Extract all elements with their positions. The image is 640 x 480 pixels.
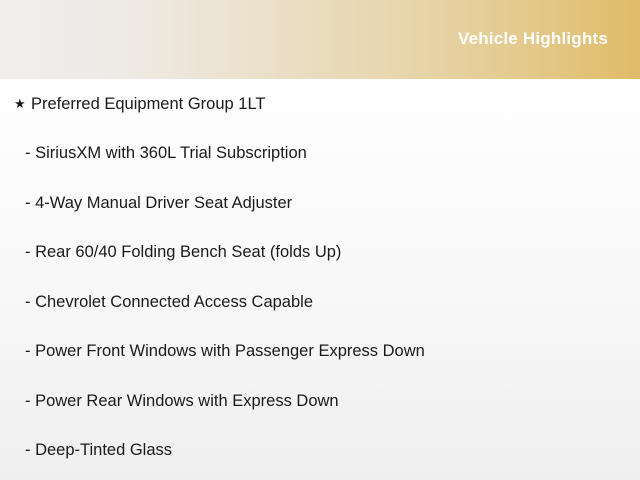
list-item-label: - Rear 60/40 Folding Bench Seat (folds U…	[25, 242, 341, 262]
list-item: - Power Front Windows with Passenger Exp…	[0, 327, 640, 377]
list-item: - SiriusXM with 360L Trial Subscription	[0, 129, 640, 179]
list-item: - Rear 60/40 Folding Bench Seat (folds U…	[0, 228, 640, 278]
star-bullet-icon: ★	[14, 97, 31, 110]
vehicle-highlights-page: Vehicle Highlights ★Preferred Equipment …	[0, 0, 640, 480]
page-title: Vehicle Highlights	[458, 29, 608, 49]
list-item-label: - 4-Way Manual Driver Seat Adjuster	[25, 193, 292, 213]
list-item-label: - Deep-Tinted Glass	[25, 440, 172, 460]
header-banner: Vehicle Highlights	[0, 0, 640, 79]
list-item: - 4-Way Manual Driver Seat Adjuster	[0, 178, 640, 228]
list-item: ★Preferred Equipment Group 1LT	[0, 79, 640, 129]
list-item-label: - Power Front Windows with Passenger Exp…	[25, 341, 425, 361]
list-item-label: - SiriusXM with 360L Trial Subscription	[25, 143, 307, 163]
list-item: - Power Rear Windows with Express Down	[0, 376, 640, 426]
list-item: - Deep-Tinted Glass	[0, 426, 640, 476]
list-item-label: Preferred Equipment Group 1LT	[31, 94, 265, 114]
highlights-list: ★Preferred Equipment Group 1LT- SiriusXM…	[0, 79, 640, 475]
list-item-label: - Power Rear Windows with Express Down	[25, 391, 339, 411]
list-item: - Chevrolet Connected Access Capable	[0, 277, 640, 327]
list-item-label: - Chevrolet Connected Access Capable	[25, 292, 313, 312]
